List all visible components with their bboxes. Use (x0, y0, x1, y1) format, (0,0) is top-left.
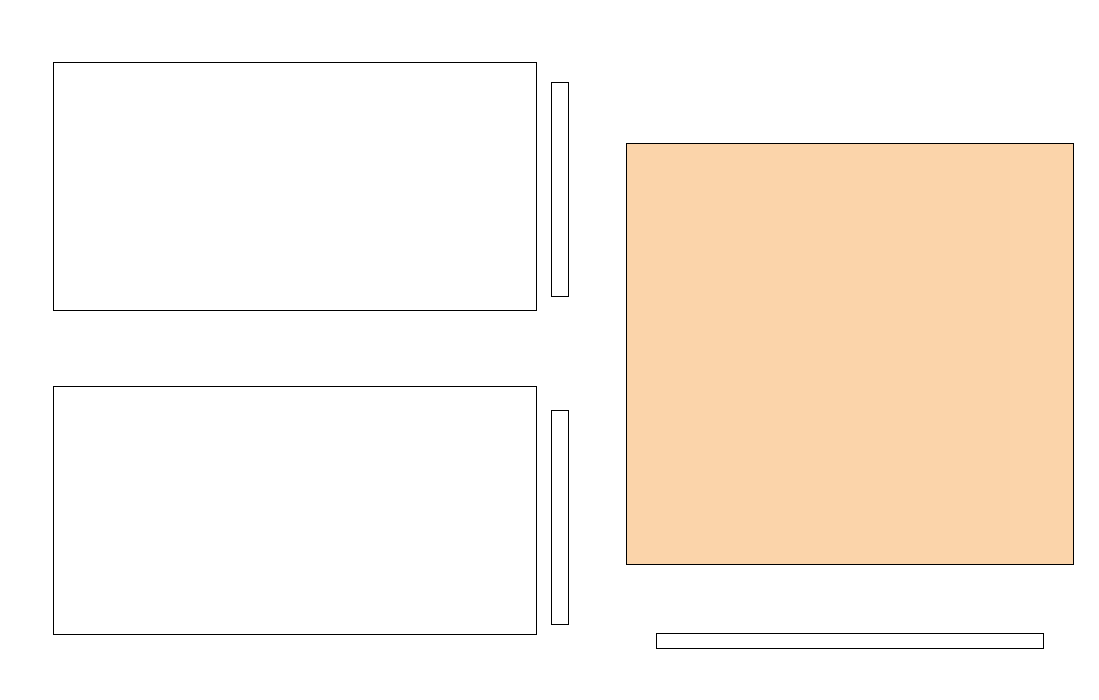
temperature-plot-area (53, 62, 537, 311)
sst-colorbar (656, 633, 1044, 649)
map-plot-area (626, 143, 1074, 565)
salinity-plot-area (53, 386, 537, 635)
map-graphic (627, 144, 1073, 564)
temperature-colorbar (551, 82, 569, 297)
salinity-colorbar (551, 410, 569, 625)
